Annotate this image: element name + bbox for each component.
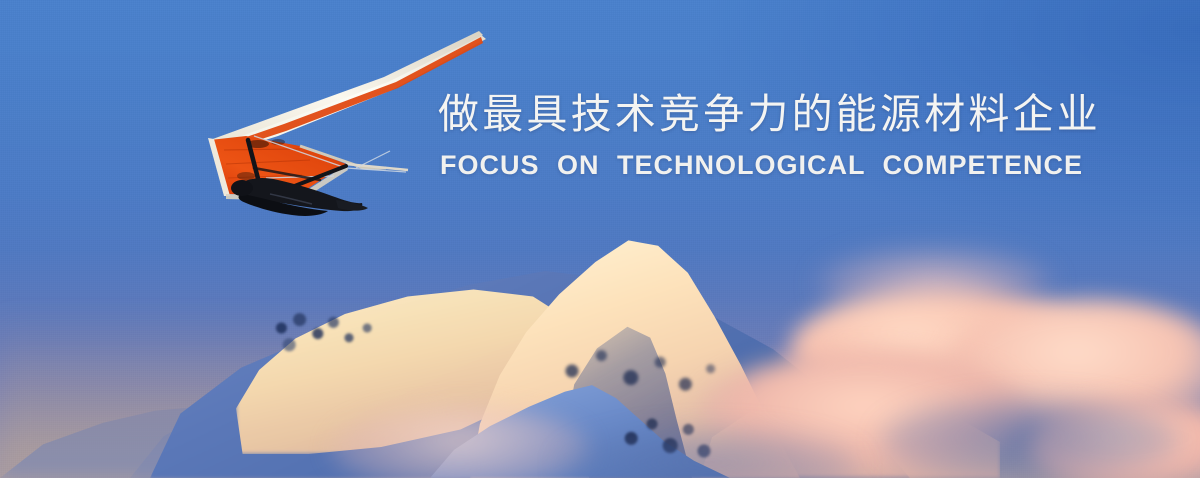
headline-english: FOCUS ON TECHNOLOGICAL COMPETENCE [440, 148, 1198, 182]
hero-banner: 做最具技术竞争力的能源材料企业 FOCUS ON TECHNOLOGICAL C… [0, 0, 1200, 478]
headline-block: 做最具技术竞争力的能源材料企业 FOCUS ON TECHNOLOGICAL C… [438, 86, 1198, 182]
cloud-shadow-right [880, 398, 1180, 478]
headline-chinese: 做最具技术竞争力的能源材料企业 [438, 86, 1198, 142]
mountain-left-rock-outcrops [258, 300, 388, 370]
